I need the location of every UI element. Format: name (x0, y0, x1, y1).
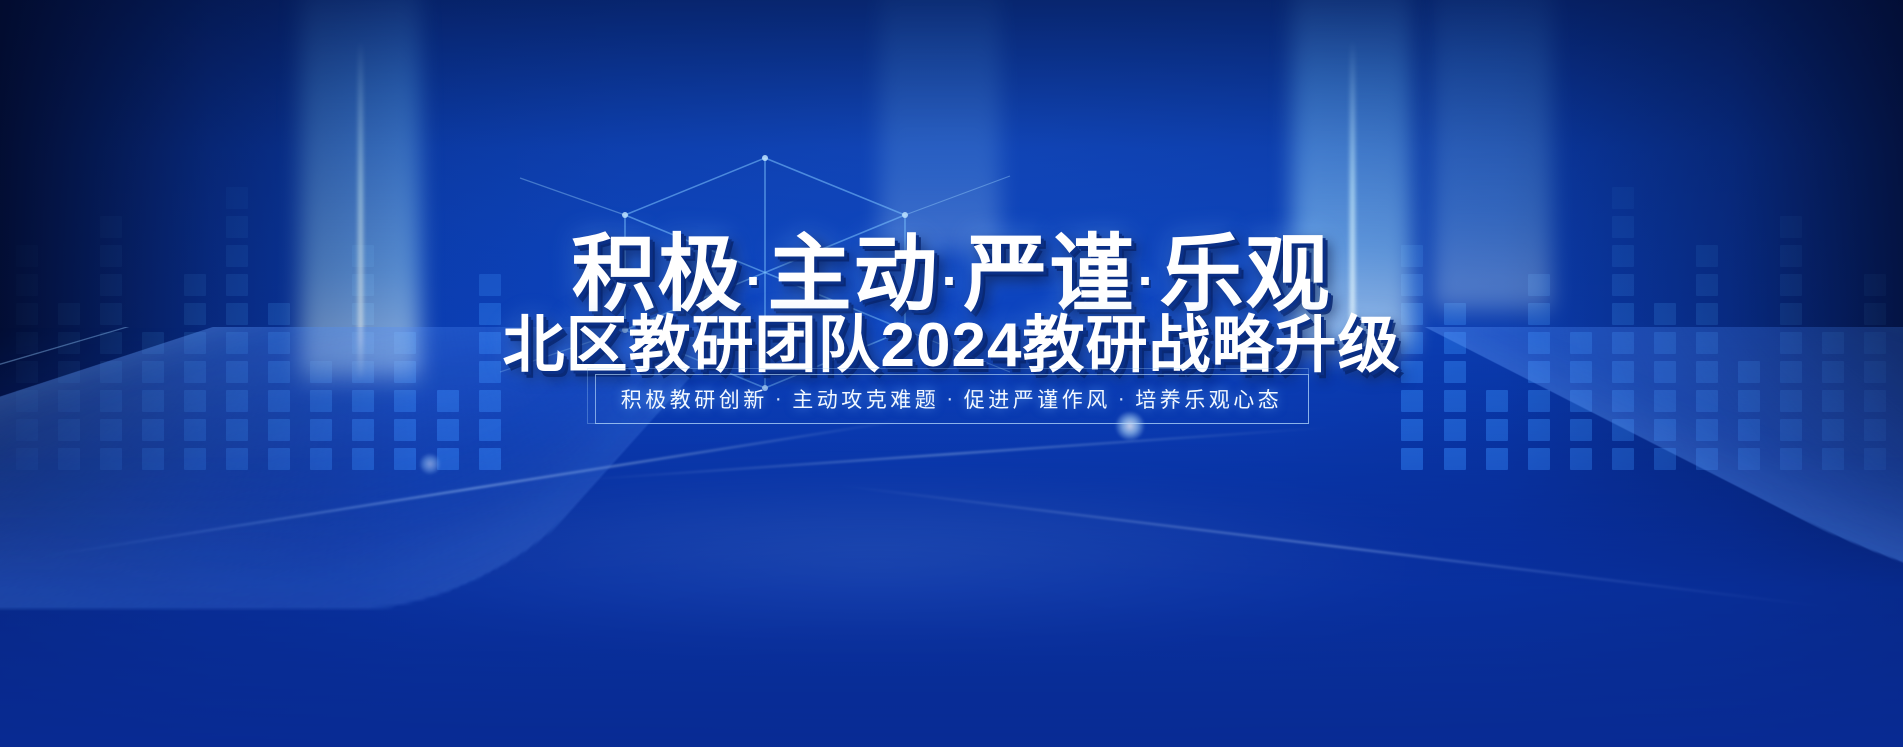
tagline-item: 培养乐观心态 (1135, 384, 1282, 414)
title-separator-dot: · (942, 251, 962, 311)
tagline-item: 促进严谨作风 (964, 384, 1111, 414)
tagline-separator-dot: · (1118, 387, 1129, 411)
banner-content: 积极·主动·严谨·乐观 北区教研团队2024教研战略升级 积极教研创新·主动攻克… (0, 0, 1903, 747)
tagline-item: 积极教研创新 (621, 384, 768, 414)
tagline-separator-dot: · (946, 387, 957, 411)
title-word: 乐观 (1159, 227, 1331, 321)
tagline-separator-dot: · (775, 387, 786, 411)
tagline-item: 主动攻克难题 (792, 384, 939, 414)
banner-stage: 积极·主动·严谨·乐观 北区教研团队2024教研战略升级 积极教研创新·主动攻克… (0, 0, 1903, 747)
title-word: 严谨 (963, 227, 1135, 321)
title-separator-dot: · (1138, 251, 1158, 311)
tagline-block: 积极教研创新·主动攻克难题·促进严谨作风·培养乐观心态 (595, 374, 1309, 424)
page-title: 积极·主动·严谨·乐观 (0, 232, 1903, 316)
tagline-text: 积极教研创新·主动攻克难题·促进严谨作风·培养乐观心态 (595, 374, 1309, 424)
title-word: 主动 (767, 227, 939, 321)
title-word: 积极 (571, 227, 743, 321)
title-separator-dot: · (746, 251, 766, 311)
